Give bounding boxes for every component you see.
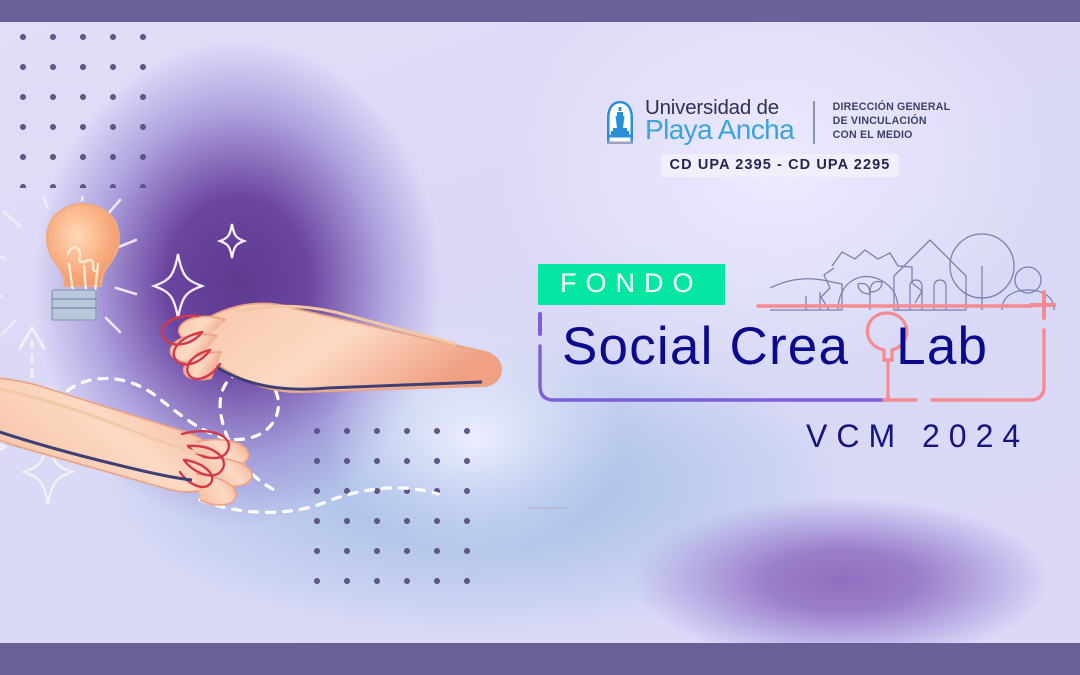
hand-left (0, 376, 252, 504)
main-title-part2: Lab (896, 317, 988, 376)
subtitle-vcm-year: VCM 2024 (806, 418, 1029, 455)
poster-canvas: Universidad de Playa Ancha DIRECCIÓN GEN… (0, 0, 1080, 675)
divider-tick (529, 507, 567, 509)
lightbulb-icon (47, 204, 119, 320)
top-bar (0, 0, 1080, 22)
bottom-bar (0, 643, 1080, 675)
main-title: Social CreaLab (562, 320, 988, 373)
logo-line-2: Playa Ancha (645, 116, 794, 144)
logo-separator (813, 101, 815, 144)
plus-icon (1031, 292, 1056, 318)
logo-department-text: DIRECCIÓN GENERAL DE VINCULACIÓN CON EL … (833, 98, 951, 143)
lighthouse-arch-logo (604, 100, 636, 147)
title-lockup: FONDO Social CreaLab (536, 262, 1056, 422)
upa-logo-block: Universidad de Playa Ancha DIRECCIÓN GEN… (604, 98, 956, 193)
fondo-badge: FONDO (538, 264, 725, 305)
cd-code-badge: CD UPA 2395 - CD UPA 2295 (661, 154, 900, 177)
hands-illustration (0, 196, 516, 526)
hand-right (162, 303, 501, 392)
main-title-part1: Social Crea (562, 317, 849, 376)
dot-grid-top-left (0, 14, 152, 188)
